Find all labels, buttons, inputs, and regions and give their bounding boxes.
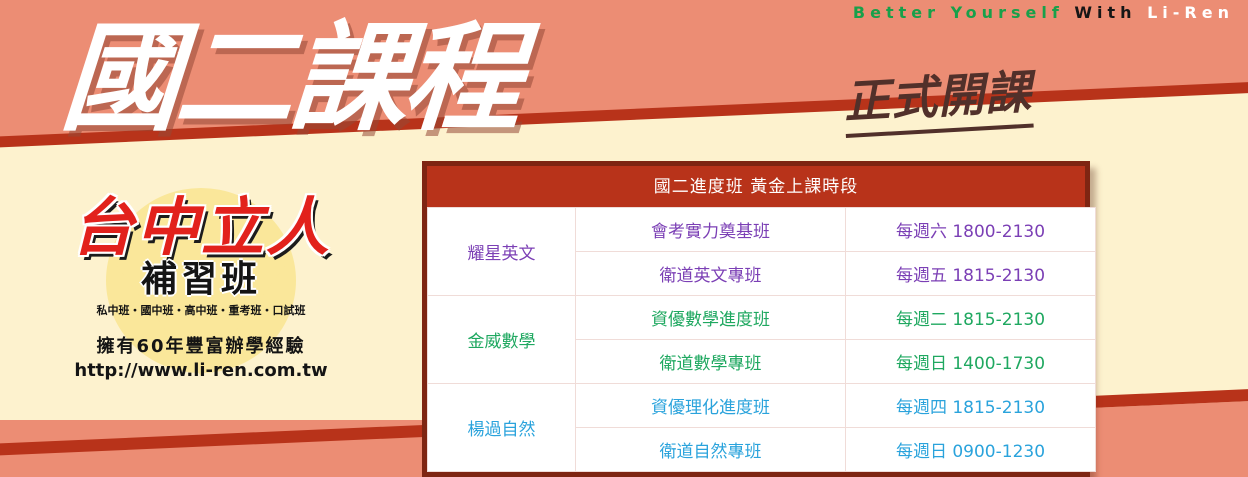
table-row: 金威數學資優數學進度班每週二 1815-2130 <box>428 296 1096 340</box>
subject-cell: 耀星英文 <box>428 208 576 296</box>
table-row: 耀星英文會考實力奠基班每週六 1800-2130 <box>428 208 1096 252</box>
subject-cell: 楊過自然 <box>428 384 576 472</box>
time-cell: 每週二 1815-2130 <box>846 296 1096 340</box>
tagline-part-2: With <box>1074 3 1136 22</box>
logo-school-name: 台中立人 <box>36 196 366 259</box>
tagline: Better Yourself With Li-Ren <box>853 3 1234 22</box>
course-cell: 衛道自然專班 <box>576 428 846 472</box>
logo: 台中立人 補習班 私中班・國中班・高中班・重考班・口試班 擁有60年豐富辦學經驗… <box>36 196 366 381</box>
tagline-part-1: Better Yourself <box>853 3 1064 22</box>
logo-website-url: http://www.li-ren.com.tw <box>36 360 366 381</box>
schedule-header: 國二進度班 黃金上課時段 <box>427 166 1085 207</box>
course-cell: 資優數學進度班 <box>576 296 846 340</box>
schedule-grid: 耀星英文會考實力奠基班每週六 1800-2130衛道英文專班每週五 1815-2… <box>427 207 1096 472</box>
logo-school-type: 補習班 <box>36 261 366 299</box>
table-row: 楊過自然資優理化進度班每週四 1815-2130 <box>428 384 1096 428</box>
logo-course-list: 私中班・國中班・高中班・重考班・口試班 <box>36 302 366 318</box>
page-subtitle: 正式開課 <box>842 56 1034 138</box>
promo-banner: Better Yourself With Li-Ren 國二課程 正式開課 台中… <box>0 0 1248 477</box>
logo-experience: 擁有60年豐富辦學經驗 <box>36 332 366 358</box>
page-title: 國二課程 <box>58 14 523 141</box>
subject-cell: 金威數學 <box>428 296 576 384</box>
course-cell: 會考實力奠基班 <box>576 208 846 252</box>
time-cell: 每週日 1400-1730 <box>846 340 1096 384</box>
course-cell: 衛道英文專班 <box>576 252 846 296</box>
course-cell: 資優理化進度班 <box>576 384 846 428</box>
time-cell: 每週六 1800-2130 <box>846 208 1096 252</box>
time-cell: 每週日 0900-1230 <box>846 428 1096 472</box>
time-cell: 每週五 1815-2130 <box>846 252 1096 296</box>
schedule-table: 國二進度班 黃金上課時段 耀星英文會考實力奠基班每週六 1800-2130衛道英… <box>422 161 1090 477</box>
course-cell: 衛道數學專班 <box>576 340 846 384</box>
tagline-part-3: Li-Ren <box>1147 3 1234 22</box>
time-cell: 每週四 1815-2130 <box>846 384 1096 428</box>
